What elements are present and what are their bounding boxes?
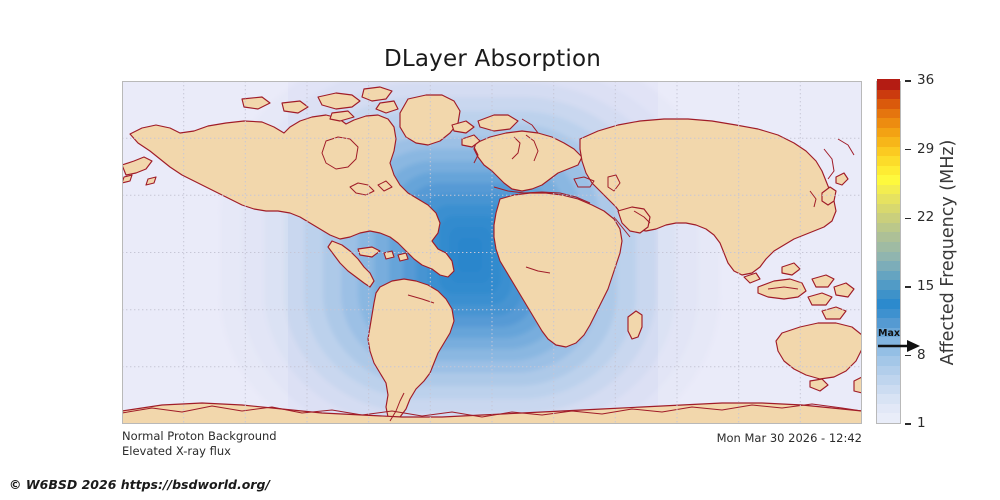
- colorbar-band: [877, 155, 900, 166]
- note-xray-flux: Elevated X-ray flux: [122, 444, 277, 459]
- tick-label: 29: [917, 143, 934, 157]
- colorbar-band: [877, 269, 900, 280]
- tick-mark: [905, 218, 911, 219]
- colorbar-band: [877, 183, 900, 194]
- colorbar-gradient: [876, 81, 901, 424]
- colorbar-band: [877, 393, 900, 404]
- colorbar-band: [877, 193, 900, 204]
- colorbar-band: [877, 107, 900, 118]
- tick-mark: [905, 286, 911, 287]
- colorbar-band: [877, 164, 900, 175]
- colorbar-band: [877, 383, 900, 394]
- tick-mark: [905, 355, 911, 356]
- colorbar-band: [877, 221, 900, 232]
- colorbar-band: [877, 288, 900, 299]
- colorbar-band: [877, 126, 900, 137]
- colorbar[interactable]: [876, 81, 901, 424]
- tick-label: 15: [917, 280, 934, 294]
- colorbar-band: [877, 98, 900, 109]
- colorbar-band: [877, 412, 900, 423]
- colorbar-band: [877, 260, 900, 271]
- colorbar-band: [877, 241, 900, 252]
- colorbar-band: [877, 317, 900, 328]
- colorbar-band: [877, 88, 900, 99]
- figure-canvas: DLayer Absorption: [0, 0, 1000, 500]
- colorbar-band: [877, 174, 900, 185]
- tick-mark: [905, 423, 911, 424]
- colorbar-band: [877, 212, 900, 223]
- world-map-svg: [122, 81, 862, 424]
- copyright-notice: © W6BSD 2026 https://bsdworld.org/: [9, 477, 270, 492]
- colorbar-band: [877, 279, 900, 290]
- colorbar-max-annotation: Max: [876, 329, 922, 355]
- colorbar-axis-label: Affected Frequency (MHz): [935, 0, 961, 81]
- colorbar-band: [877, 364, 900, 375]
- colorbar-band: [877, 355, 900, 366]
- colorbar-band: [877, 374, 900, 385]
- colorbar-band: [877, 117, 900, 128]
- colorbar-band: [877, 298, 900, 309]
- tick-label: 22: [917, 211, 934, 225]
- page-title: DLayer Absorption: [0, 46, 985, 72]
- tick-mark: [905, 80, 911, 81]
- colorbar-band: [877, 250, 900, 261]
- colorbar-band: [877, 231, 900, 242]
- colorbar-band: [877, 136, 900, 147]
- timestamp: Mon Mar 30 2026 - 12:42: [0, 431, 862, 445]
- right-arrow-icon: [876, 329, 922, 355]
- colorbar-band: [877, 145, 900, 156]
- tick-mark: [905, 149, 911, 150]
- tick-label: 1: [917, 417, 926, 431]
- colorbar-band: [877, 79, 900, 90]
- colorbar-band: [877, 307, 900, 318]
- tick-label: 36: [917, 74, 934, 88]
- colorbar-band: [877, 402, 900, 413]
- colorbar-band: [877, 202, 900, 213]
- world-map-axes[interactable]: [122, 81, 862, 424]
